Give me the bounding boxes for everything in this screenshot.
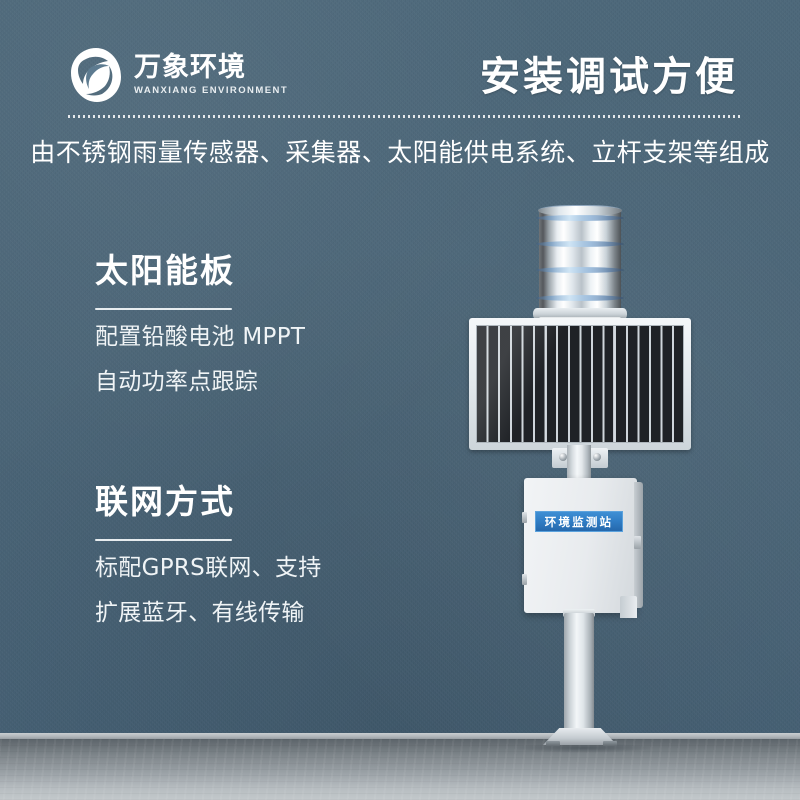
dotted-divider (68, 115, 740, 118)
feature-title: 联网方式 (95, 483, 425, 521)
feature-line: 标配GPRS联网、支持 (95, 557, 425, 580)
brand-logo-text: 万象环境 WANXIANG ENVIRONMENT (134, 54, 288, 96)
wanxiang-swirl-logo-icon (68, 46, 124, 104)
enclosure-label-text: 环境监测站 (545, 514, 614, 530)
subtitle: 由不锈钢雨量传感器、采集器、太阳能供电系统、立杆支架等组成 (0, 133, 800, 169)
brand-name-en: WANXIANG ENVIRONMENT (134, 86, 288, 96)
feature-rule (95, 539, 232, 541)
solar-panel (469, 318, 691, 450)
rain-gauge-band (536, 215, 624, 221)
solar-panel-busbar (545, 326, 547, 442)
feature-line: 扩展蓝牙、有线传输 (95, 602, 425, 625)
enclosure-latch (634, 536, 641, 549)
mounting-pole-lower (564, 613, 594, 745)
rain-gauge-band (536, 241, 624, 247)
feature-block-solar-panel: 太阳能板 配置铅酸电池 MPPT 自动功率点跟踪 (95, 252, 425, 394)
feature-title: 太阳能板 (95, 252, 425, 290)
feature-line: 配置铅酸电池 MPPT (95, 326, 425, 349)
promo-banner: 万象环境 WANXIANG ENVIRONMENT 安装调试方便 由不锈钢雨量传… (0, 0, 800, 800)
bracket-bolt (593, 453, 601, 461)
feature-block-network: 联网方式 标配GPRS联网、支持 扩展蓝牙、有线传输 (95, 483, 425, 625)
base-anchor-bolt (603, 741, 617, 746)
base-anchor-bolt (546, 741, 560, 746)
headline: 安装调试方便 (480, 44, 750, 102)
product-illustration: 环境监测站 (455, 195, 785, 795)
controller-enclosure: 环境监测站 (524, 478, 637, 613)
solar-panel-busbar (613, 326, 615, 442)
enclosure-foot (620, 596, 637, 618)
rain-gauge-band (536, 267, 624, 273)
status-badge: 环境监测站 (535, 511, 623, 532)
brand-name-cn: 万象环境 (134, 54, 288, 81)
bracket-bolt (559, 453, 567, 461)
feature-rule (95, 308, 232, 310)
rain-gauge-sensor (535, 203, 625, 318)
feature-line: 自动功率点跟踪 (95, 371, 425, 394)
rain-gauge-band (536, 295, 624, 301)
solar-panel-cells (476, 325, 684, 443)
enclosure-latch (522, 512, 527, 523)
enclosure-latch (522, 574, 527, 585)
brand-logo: 万象环境 WANXIANG ENVIRONMENT (68, 46, 288, 104)
